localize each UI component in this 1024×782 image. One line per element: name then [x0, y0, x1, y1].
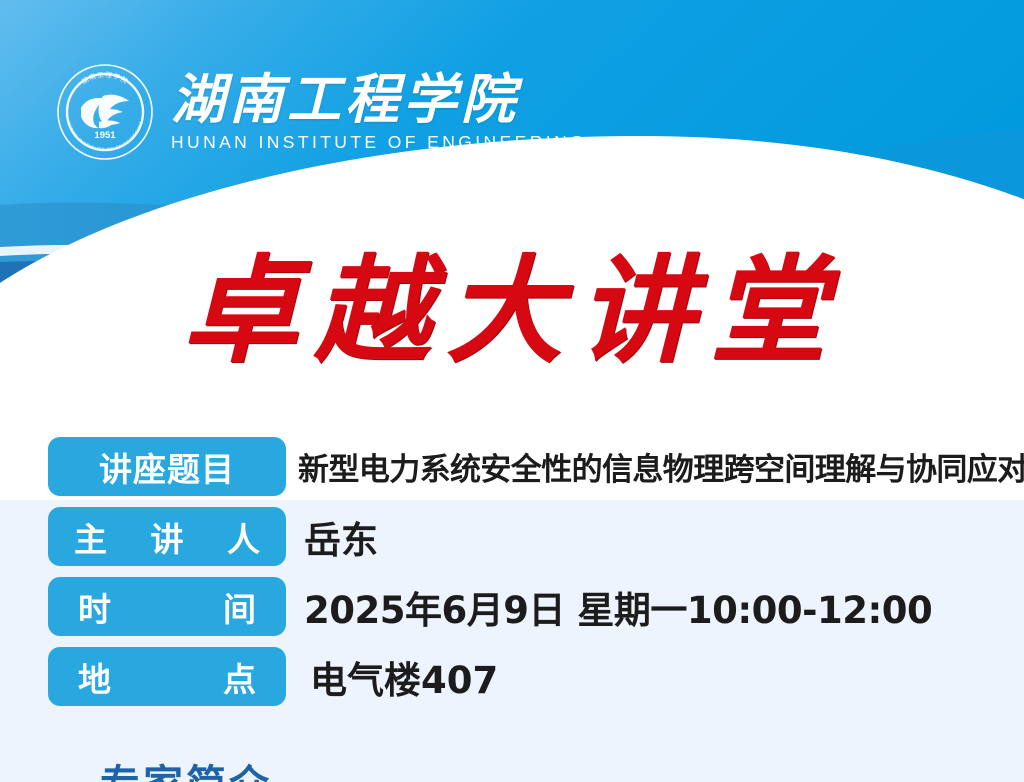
value-time: 2025年6月9日 星期一10:00-12:00 [286, 580, 1010, 634]
info-row-time: 时 间 2025年6月9日 星期一10:00-12:00 [48, 577, 1010, 636]
value-speaker: 岳东 [286, 510, 1010, 564]
institution-name-cn: 湖南工程学院 [171, 72, 587, 126]
info-row-location: 地 点 电气楼407 [48, 647, 1010, 706]
label-time-char-2: 间 [223, 583, 256, 631]
seal-svg: 1951 湖南工程学院 HUNAN INSTITUTE OF ENGINEERI… [55, 62, 155, 162]
label-lecture-topic: 讲座题目 [48, 437, 286, 496]
label-location-char-2: 点 [223, 653, 256, 701]
university-seal-icon: 1951 湖南工程学院 HUNAN INSTITUTE OF ENGINEERI… [55, 62, 155, 162]
section-heading-expert-profile: 专家简介 [100, 752, 272, 782]
label-location: 地 点 [48, 647, 286, 706]
label-speaker-char-3: 人 [227, 513, 260, 561]
value-lecture-topic: 新型电力系统安全性的信息物理跨空间理解与协同应对机制 [286, 444, 1024, 489]
label-speaker-char-2: 讲 [151, 513, 184, 561]
institution-wordmark: 湖南工程学院 HUNAN INSTITUTE OF ENGINEERING [171, 72, 587, 152]
label-location-char-1: 地 [78, 653, 111, 701]
info-table: 讲座题目 新型电力系统安全性的信息物理跨空间理解与协同应对机制 主 讲 人 岳东… [48, 437, 1010, 717]
label-speaker-char-1: 主 [74, 513, 107, 561]
poster-canvas: 1951 湖南工程学院 HUNAN INSTITUTE OF ENGINEERI… [0, 0, 1024, 782]
value-location: 电气楼407 [286, 650, 1010, 704]
seal-arc-cn: 湖南工程学院 [80, 70, 131, 86]
seal-year: 1951 [94, 130, 116, 141]
svg-text:湖南工程学院: 湖南工程学院 [80, 70, 131, 86]
label-time: 时 间 [48, 577, 286, 636]
label-speaker: 主 讲 人 [48, 507, 286, 566]
label-time-char-1: 时 [78, 583, 111, 631]
info-row-topic: 讲座题目 新型电力系统安全性的信息物理跨空间理解与协同应对机制 [48, 437, 1010, 496]
institution-name-en: HUNAN INSTITUTE OF ENGINEERING [171, 134, 587, 152]
info-row-speaker: 主 讲 人 岳东 [48, 507, 1010, 566]
main-title: 卓越大讲堂 [0, 248, 1024, 376]
institution-logo-block: 1951 湖南工程学院 HUNAN INSTITUTE OF ENGINEERI… [55, 62, 587, 162]
